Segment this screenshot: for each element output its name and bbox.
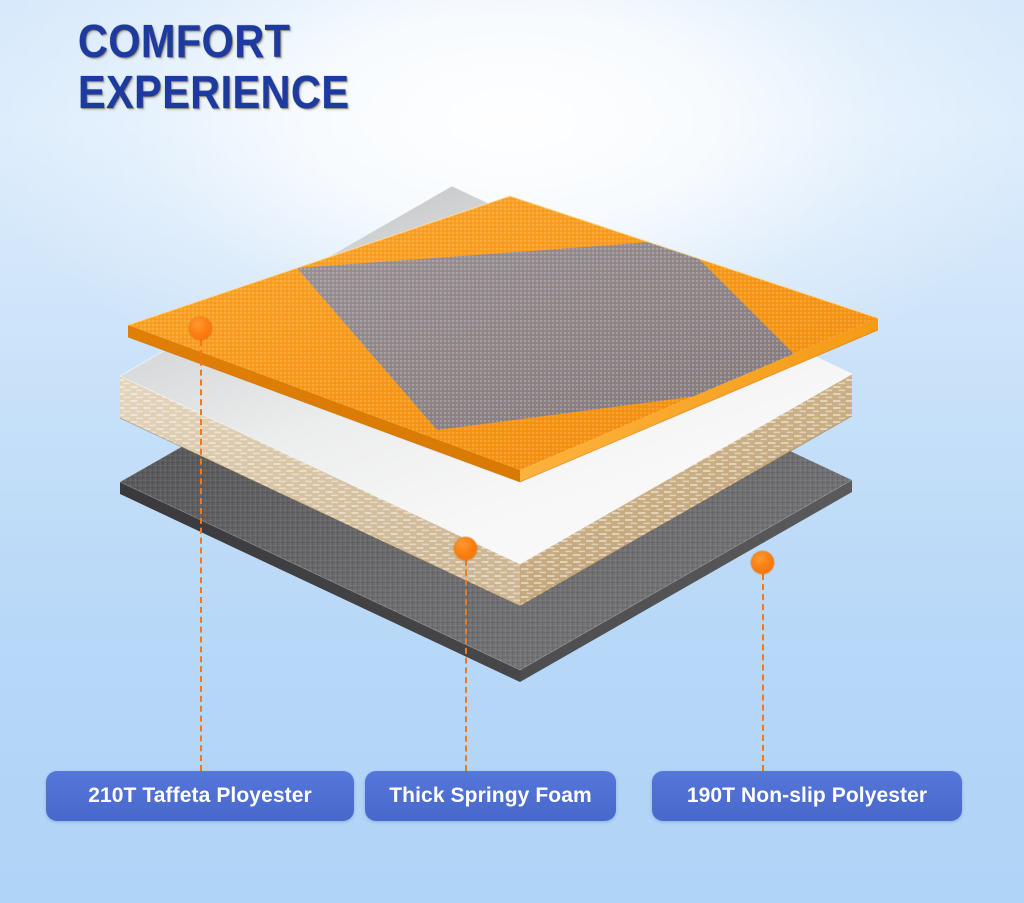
marker-dot-top-layer[interactable] <box>189 317 212 340</box>
page-title: COMFORT EXPERIENCE <box>78 16 380 118</box>
label-chip-middle-layer[interactable]: Thick Springy Foam <box>365 771 616 821</box>
marker-dot-bottom-layer[interactable] <box>751 551 774 574</box>
label-text-top-layer: 210T Taffeta Ployester <box>88 784 312 808</box>
title-line-2: EXPERIENCE <box>78 67 349 118</box>
label-text-middle-layer: Thick Springy Foam <box>389 784 592 808</box>
label-chip-top-layer[interactable]: 210T Taffeta Ployester <box>46 771 354 821</box>
leader-line-top-layer <box>200 340 202 771</box>
infographic-canvas: COMFORT EXPERIENCE <box>0 0 1024 903</box>
leader-line-bottom-layer <box>762 574 764 771</box>
layer-stack-illustration <box>0 0 1024 903</box>
leader-line-middle-layer <box>465 560 467 771</box>
label-text-bottom-layer: 190T Non-slip Polyester <box>687 784 927 808</box>
marker-dot-middle-layer[interactable] <box>454 537 477 560</box>
title-line-1: COMFORT <box>78 16 349 67</box>
label-chip-bottom-layer[interactable]: 190T Non-slip Polyester <box>652 771 962 821</box>
